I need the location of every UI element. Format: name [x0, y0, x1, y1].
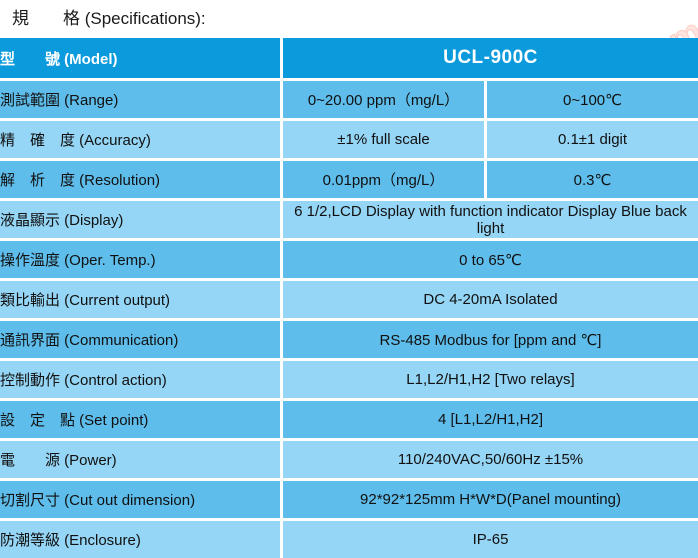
row-label-cell: 液晶顯示 (Display): [0, 201, 283, 241]
row-value-cell: IP-65: [283, 521, 698, 558]
table-row: 切割尺寸 (Cut out dimension)92*92*125mm H*W*…: [0, 481, 698, 521]
table-row: 通訊界面 (Communication)RS-485 Modbus for [p…: [0, 321, 698, 361]
row-value-cell: 110/240VAC,50/60Hz ±15%: [283, 441, 698, 481]
row-label-cell: 設 定 點 (Set point): [0, 401, 283, 441]
row-value-cell: DC 4-20mA Isolated: [283, 281, 698, 321]
row-value-cell: 4 [L1,L2/H1,H2]: [283, 401, 698, 441]
row-value-cell-b: 0~100℃: [487, 81, 698, 121]
table-row: 控制動作 (Control action)L1,L2/H1,H2 [Two re…: [0, 361, 698, 401]
row-value-cell-b: 0.1±1 digit: [487, 121, 698, 161]
row-label-cell: 類比輸出 (Current output): [0, 281, 283, 321]
table-row: 測試範圍 (Range)0~20.00 ppm（mg/L）0~100℃: [0, 81, 698, 121]
table-row: 電 源 (Power)110/240VAC,50/60Hz ±15%: [0, 441, 698, 481]
row-label-cell: 精 確 度 (Accuracy): [0, 121, 283, 161]
row-label-cell: 電 源 (Power): [0, 441, 283, 481]
row-label-cell: 切割尺寸 (Cut out dimension): [0, 481, 283, 521]
row-value-cell: RS-485 Modbus for [ppm and ℃]: [283, 321, 698, 361]
table-row: 解 析 度 (Resolution)0.01ppm（mg/L）0.3℃: [0, 161, 698, 201]
row-value-cell-a: ±1% full scale: [283, 121, 487, 161]
table-row: 液晶顯示 (Display)6 1/2,LCD Display with fun…: [0, 201, 698, 241]
row-value-cell-a: 0~20.00 ppm（mg/L）: [283, 81, 487, 121]
row-label-cell: 防潮等級 (Enclosure): [0, 521, 283, 558]
row-label-cell: 操作溫度 (Oper. Temp.): [0, 241, 283, 281]
table-header-row: 型 號 (Model) UCL-900C: [0, 38, 698, 81]
row-label-cell: 通訊界面 (Communication): [0, 321, 283, 361]
row-label-cell: 測試範圍 (Range): [0, 81, 283, 121]
row-value-cell: 0 to 65℃: [283, 241, 698, 281]
header-model-cell: UCL-900C: [283, 38, 698, 81]
specifications-table: 型 號 (Model) UCL-900C 測試範圍 (Range)0~20.00…: [0, 38, 698, 558]
table-row: 精 確 度 (Accuracy)±1% full scale0.1±1 digi…: [0, 121, 698, 161]
page-title: 規 格 (Specifications):: [0, 0, 698, 38]
row-value-cell: L1,L2/H1,H2 [Two relays]: [283, 361, 698, 401]
row-value-cell: 6 1/2,LCD Display with function indicato…: [283, 201, 698, 241]
table-body: 型 號 (Model) UCL-900C 測試範圍 (Range)0~20.00…: [0, 38, 698, 558]
row-label-cell: 解 析 度 (Resolution): [0, 161, 283, 201]
header-label-cell: 型 號 (Model): [0, 38, 283, 81]
row-value-cell: 92*92*125mm H*W*D(Panel mounting): [283, 481, 698, 521]
row-value-cell-a: 0.01ppm（mg/L）: [283, 161, 487, 201]
table-row: 防潮等級 (Enclosure)IP-65: [0, 521, 698, 558]
row-label-cell: 控制動作 (Control action): [0, 361, 283, 401]
table-row: 設 定 點 (Set point)4 [L1,L2/H1,H2]: [0, 401, 698, 441]
row-value-cell-b: 0.3℃: [487, 161, 698, 201]
table-row: 類比輸出 (Current output)DC 4-20mA Isolated: [0, 281, 698, 321]
table-row: 操作溫度 (Oper. Temp.)0 to 65℃: [0, 241, 698, 281]
